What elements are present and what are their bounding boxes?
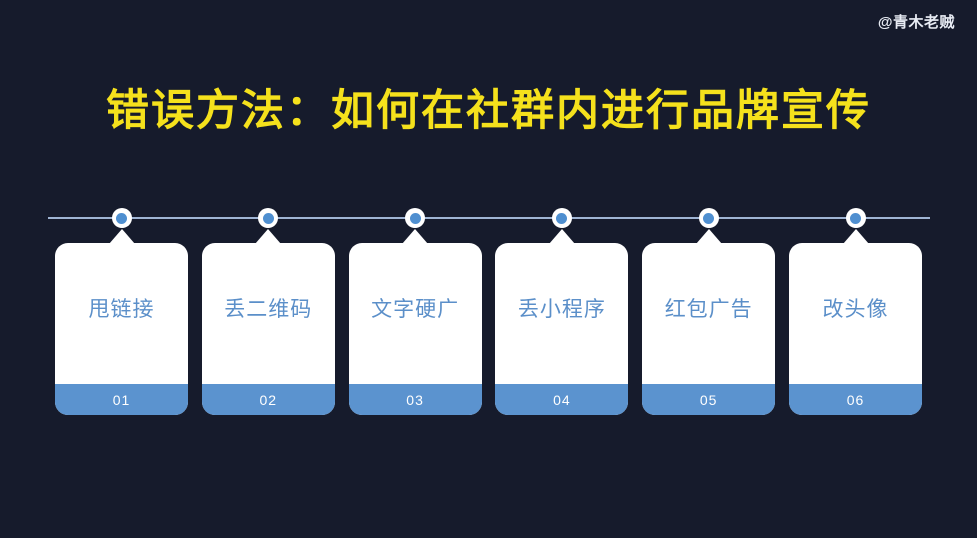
timeline-marker-04[interactable] [552,208,572,228]
timeline-marker-dot-icon [263,213,274,224]
step-card-02[interactable]: 丢二维码02 [202,243,335,415]
card-number: 05 [700,392,718,408]
card-label: 红包广告 [665,293,753,323]
timeline-marker-01[interactable] [112,208,132,228]
card-number-band: 05 [642,384,775,415]
card-pointer-triangle-icon [402,229,428,244]
card-number: 04 [553,392,571,408]
watermark-label: @青木老贼 [878,11,955,32]
card-label: 丢二维码 [224,293,312,323]
card-number-band: 06 [789,384,922,415]
card-number: 02 [260,392,278,408]
card-label: 改头像 [823,293,889,323]
timeline-marker-dot-icon [556,213,567,224]
card-body: 文字硬广 [349,243,482,384]
card-number-band: 01 [55,384,188,415]
timeline-marker-dot-icon [116,213,127,224]
page-title: 错误方法：如何在社群内进行品牌宣传 [0,76,977,138]
card-pointer-triangle-icon [549,229,575,244]
step-card-03[interactable]: 文字硬广03 [349,243,482,415]
card-number-band: 02 [202,384,335,415]
timeline-marker-dot-icon [410,213,421,224]
card-number: 06 [847,392,865,408]
card-body: 丢小程序 [495,243,628,384]
card-label: 丢小程序 [518,293,606,323]
card-body: 甩链接 [55,243,188,384]
step-card-04[interactable]: 丢小程序04 [495,243,628,415]
step-card-06[interactable]: 改头像06 [789,243,922,415]
timeline-markers [55,208,922,230]
card-label: 文字硬广 [371,293,459,323]
timeline-marker-03[interactable] [405,208,425,228]
card-pointer-triangle-icon [696,229,722,244]
card-number: 01 [113,392,131,408]
card-pointer-triangle-icon [843,229,869,244]
timeline-marker-dot-icon [850,213,861,224]
card-body: 红包广告 [642,243,775,384]
card-body: 丢二维码 [202,243,335,384]
card-row: 甩链接01丢二维码02文字硬广03丢小程序04红包广告05改头像06 [55,228,922,416]
timeline-marker-05[interactable] [699,208,719,228]
timeline-marker-06[interactable] [846,208,866,228]
step-card-01[interactable]: 甩链接01 [55,243,188,415]
card-body: 改头像 [789,243,922,384]
card-number-band: 04 [495,384,628,415]
card-label: 甩链接 [89,293,155,323]
timeline-marker-02[interactable] [258,208,278,228]
card-number-band: 03 [349,384,482,415]
card-number: 03 [406,392,424,408]
card-pointer-triangle-icon [255,229,281,244]
card-pointer-triangle-icon [109,229,135,244]
slide-canvas: @青木老贼 错误方法：如何在社群内进行品牌宣传 甩链接01丢二维码02文字硬广0… [0,0,977,538]
timeline-marker-dot-icon [703,213,714,224]
step-card-05[interactable]: 红包广告05 [642,243,775,415]
